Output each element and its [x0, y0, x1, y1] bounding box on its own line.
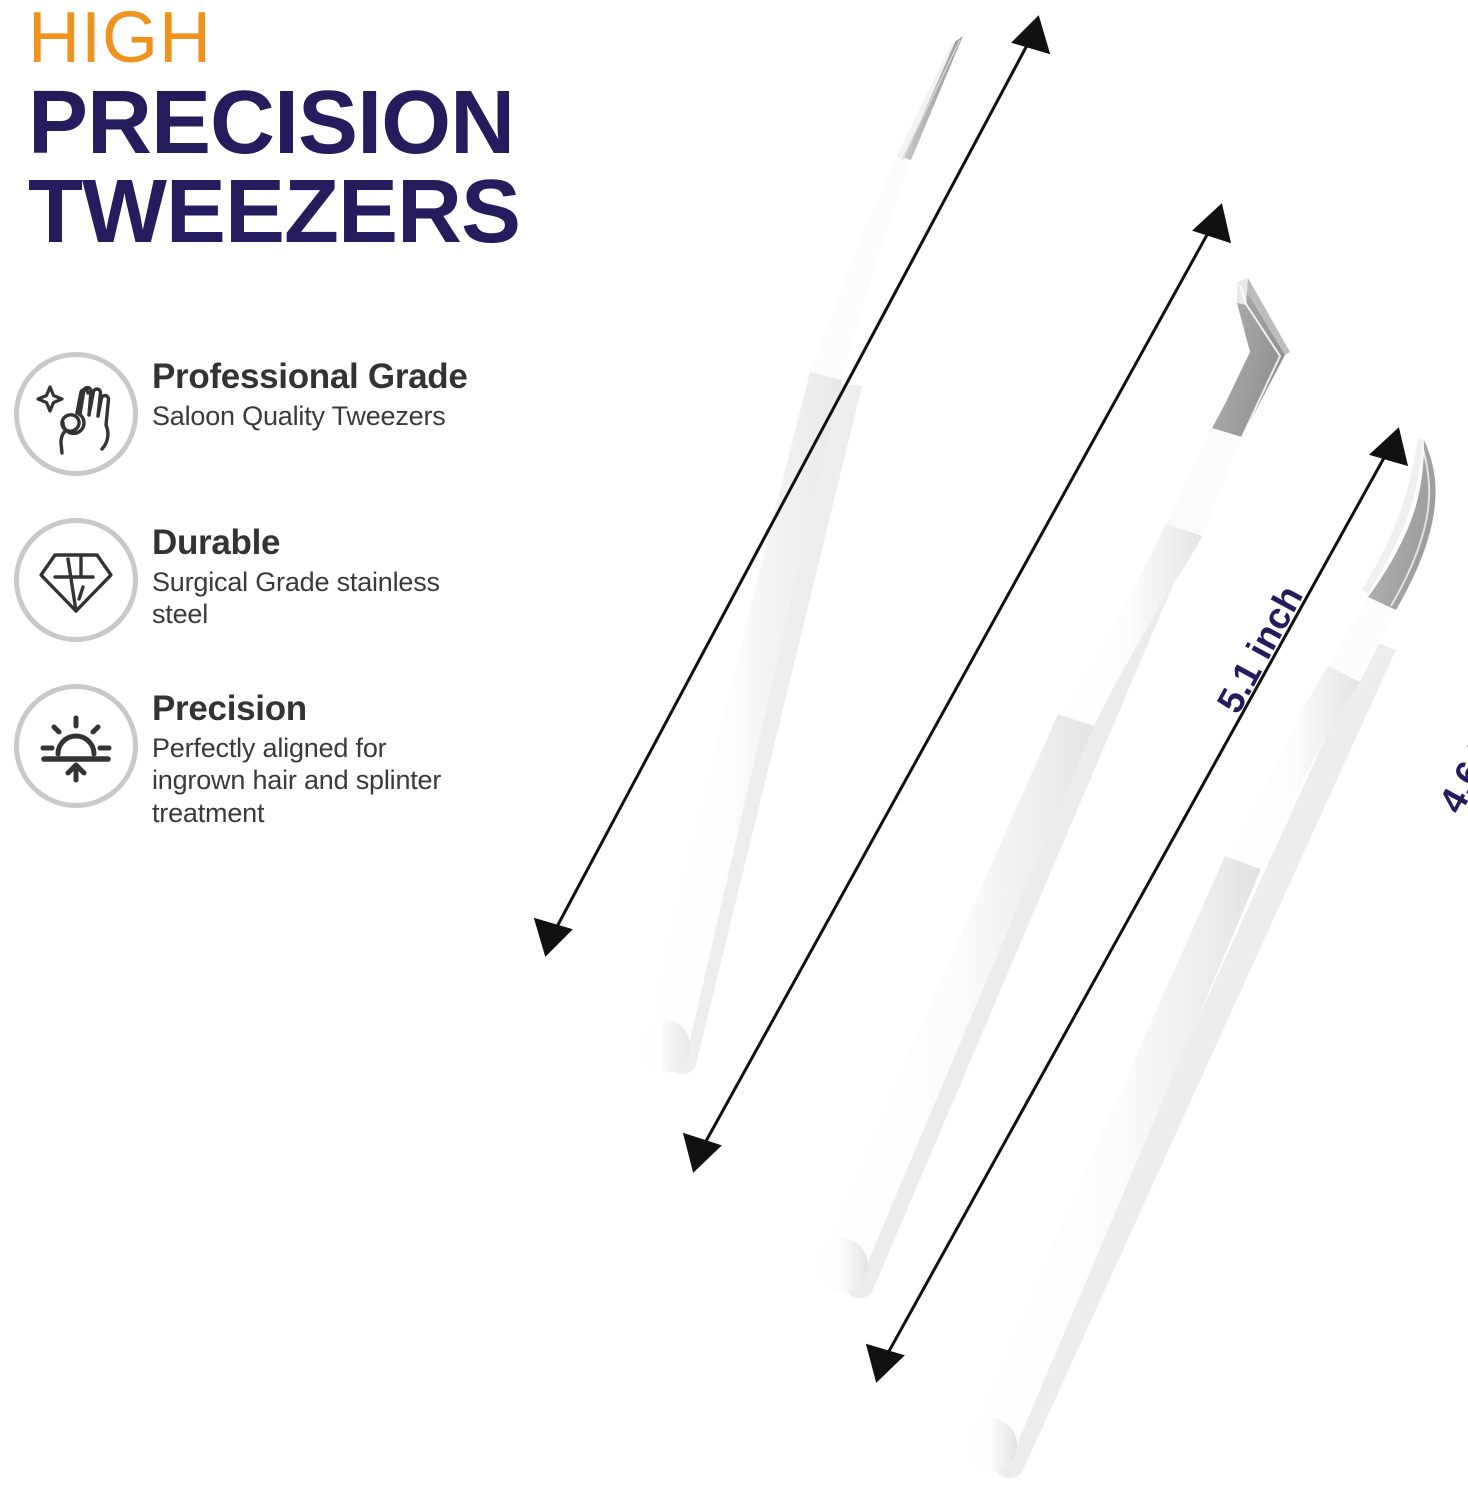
feature-item-precision: Precision Perfectly aligned for ingrown … [14, 684, 494, 829]
dimension-arrow-1 [536, 18, 1048, 954]
sunrise-arrow-icon [14, 684, 138, 808]
diamond-icon [14, 518, 138, 642]
feature-heading: Professional Grade [152, 358, 468, 395]
feature-subtext: Surgical Grade stainless steel [152, 566, 482, 631]
left-info-panel: HIGH PRECISION TWEEZERS [0, 0, 520, 1500]
product-infographic: HIGH PRECISION TWEEZERS [0, 0, 1468, 1500]
feature-item-professional-grade: Professional Grade Saloon Quality Tweeze… [14, 352, 494, 476]
feature-heading: Precision [152, 690, 482, 727]
product-image-area: 5.1 inch 4.6 inch 4.6 inch [490, 0, 1468, 1500]
dimension-arrows [536, 18, 1406, 1380]
feature-list: Professional Grade Saloon Quality Tweeze… [14, 352, 494, 871]
feature-heading: Durable [152, 524, 482, 561]
pointed-tip-tweezer [636, 36, 963, 1074]
feature-subtext: Saloon Quality Tweezers [152, 400, 468, 432]
curved-tip-tweezer [963, 438, 1436, 1478]
feature-subtext: Perfectly aligned for ingrown hair and s… [152, 732, 482, 829]
feature-item-durable: Durable Surgical Grade stainless steel [14, 518, 494, 642]
ok-hand-sparkle-icon [14, 352, 138, 476]
feature-text-durable: Durable Surgical Grade stainless steel [152, 518, 482, 631]
feature-text-professional-grade: Professional Grade Saloon Quality Tweeze… [152, 352, 468, 432]
dimension-arrow-3 [868, 430, 1406, 1380]
angled-tip-tweezer [814, 278, 1290, 1298]
feature-text-precision: Precision Perfectly aligned for ingrown … [152, 684, 482, 829]
tweezers-illustration [490, 0, 1468, 1500]
